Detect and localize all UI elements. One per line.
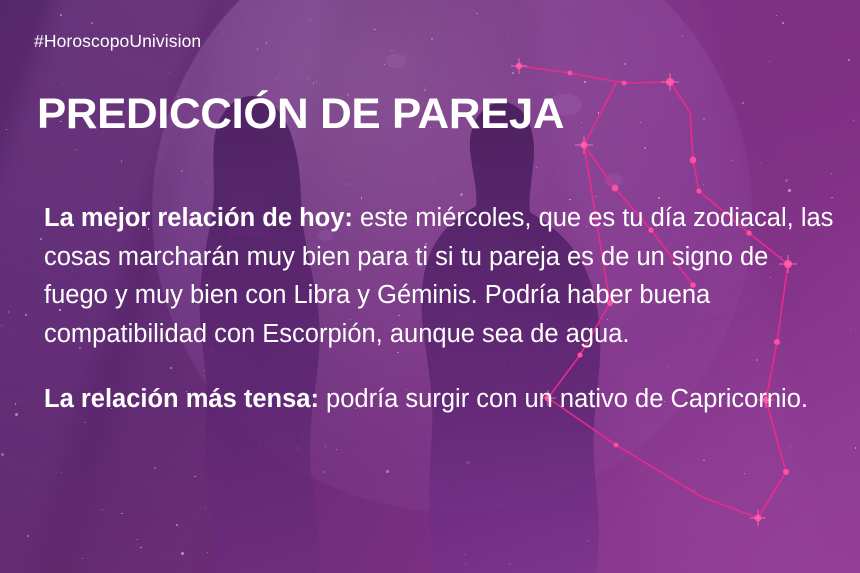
hashtag-label: #HoroscopoUnivision [34, 31, 201, 52]
paragraph-tense-relationship-lead: La relación más tensa: [44, 385, 319, 413]
prediction-body: La mejor relación de hoy: este miércoles… [44, 199, 834, 419]
text-content: #HoroscopoUnivision PREDICCIÓN DE PAREJA… [0, 0, 860, 573]
paragraph-best-relationship-lead: La mejor relación de hoy: [44, 204, 353, 232]
paragraph-best-relationship: La mejor relación de hoy: este miércoles… [44, 199, 834, 353]
horoscope-card: #HoroscopoUnivision PREDICCIÓN DE PAREJA… [0, 0, 860, 573]
page-title: PREDICCIÓN DE PAREJA [37, 92, 564, 137]
paragraph-spacer [44, 353, 834, 380]
paragraph-tense-relationship-text: podría surgir con un nativo de Capricorn… [319, 385, 808, 413]
paragraph-tense-relationship: La relación más tensa: podría surgir con… [44, 380, 834, 419]
